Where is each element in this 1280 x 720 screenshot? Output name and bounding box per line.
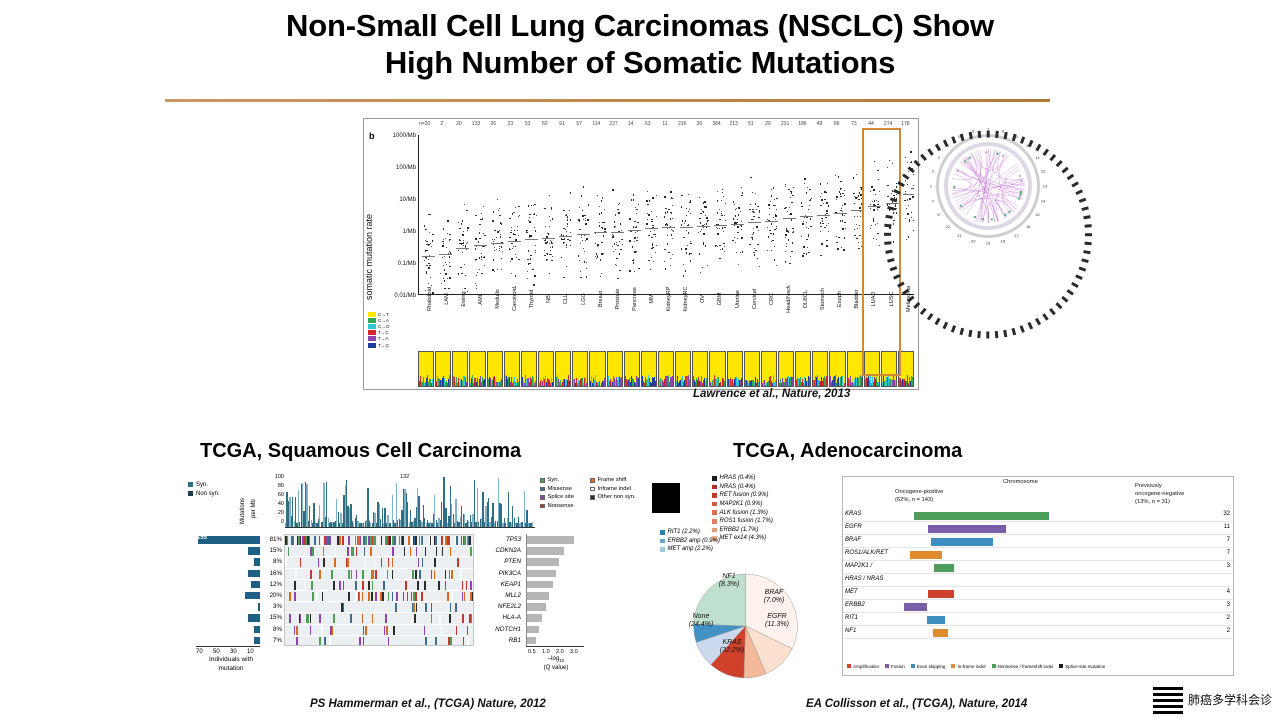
individuals-bar (198, 536, 260, 544)
oncoprint-tick (407, 592, 409, 601)
oncoprint-tick (363, 626, 365, 635)
chromosome-label: 9 (1015, 134, 1017, 139)
oncoprint-tick (450, 603, 452, 612)
heading-squamous: TCGA, Squamous Cell Carcinoma (200, 440, 521, 463)
oncoprint-tick (368, 536, 370, 545)
adeno-gene-row: HRAS / NRAS (843, 574, 1233, 587)
circos-segment (951, 325, 956, 332)
tumor-swarm (712, 135, 730, 294)
q-value-bar (527, 614, 542, 622)
gene-percentage: 12% (262, 579, 282, 590)
chromosome-label: 18 (1001, 239, 1005, 244)
individuals-bar-row (196, 635, 260, 646)
adeno-gene-frequency: 4 (1227, 589, 1230, 595)
oncoprint-tick (365, 558, 367, 567)
spectrum-cell (692, 351, 708, 387)
adeno-figure: HRAS (0.4%)NRAS (0.4%)RET fusion (0.9%)M… (660, 472, 1240, 687)
oncoprint-tick (424, 626, 426, 635)
oncoprint-tick (462, 581, 464, 590)
sample-count: 227 (605, 121, 622, 133)
sample-count: 51 (742, 121, 759, 133)
adeno-gene-row: MAP2K1 /3 (843, 561, 1233, 574)
color-swatch (712, 519, 717, 524)
tumor-type-label: OV (692, 297, 709, 349)
syn-legend-item: Syn. (188, 480, 240, 489)
gene-percentage: 15% (262, 545, 282, 556)
oncoprint-tick (403, 592, 405, 601)
oncoprint-tick (457, 558, 459, 567)
sample-count: 73 (845, 121, 862, 133)
oncoprint-tick (464, 536, 466, 545)
circos-segment (1049, 308, 1055, 315)
oncoprint-tick (299, 614, 301, 623)
pie-label-nf1: NF1(8.3%) (712, 573, 746, 589)
oncoprint-tick (356, 570, 358, 579)
oncoprint-tick (288, 547, 290, 556)
individuals-bar (248, 614, 260, 622)
color-swatch (712, 493, 717, 498)
citation-hammerman: PS Hammerman et al., (TCGA) Nature, 2012 (310, 698, 546, 710)
individuals-bar (248, 570, 260, 578)
sample-count: 20 (759, 121, 776, 133)
spectrum-cell (675, 351, 691, 387)
circos-segment (1075, 274, 1082, 279)
oncoprint-tick (470, 581, 472, 590)
adeno-gene-frequency: 2 (1227, 615, 1230, 621)
oncoprint-tick (435, 637, 437, 646)
oncoprint-tick (310, 626, 312, 635)
oncoprint-tick (374, 558, 376, 567)
spectrum-legend-label: C→A (378, 318, 389, 323)
tumor-swarm (420, 135, 438, 294)
sample-count: 23 (502, 121, 519, 133)
pie-label-gene: None (693, 613, 710, 620)
circos-segment (1056, 302, 1063, 309)
oncoprint-tick (419, 570, 421, 579)
pie-label-gene: EGFR (767, 613, 786, 620)
gene-percentage: 81% (262, 534, 282, 545)
y-tick: 10/Mb (399, 197, 416, 203)
chromosome-label: 6 (972, 128, 974, 133)
individuals-bar-row (196, 590, 260, 601)
oncoprint-tick (394, 536, 396, 545)
page-title: Non-Small Cell Lung Carcinomas (NSCLC) S… (160, 8, 1120, 81)
pie-label-braf: BRAF(7.0%) (754, 589, 794, 605)
gene-name: CDKN2A (478, 545, 524, 556)
gene-name: PTEN (478, 556, 524, 567)
individuals-bar-row (196, 568, 260, 579)
color-swatch (590, 487, 595, 492)
oncoprint-tick (473, 547, 474, 556)
spectrum-cell (469, 351, 485, 387)
oncoprint-tick (451, 592, 453, 601)
tumor-swarm (643, 135, 661, 294)
oncoprint-tick (362, 592, 364, 601)
oncoprint-tick (306, 536, 308, 545)
color-swatch (885, 664, 889, 668)
adeno-bottom-legend-label: Nonsense / frameshift indel (998, 664, 1054, 669)
oncoprint-tick (421, 592, 423, 601)
oncoprint-tick (392, 536, 394, 545)
mutation-rate-bars (285, 476, 535, 528)
oncoprint-tick (375, 592, 377, 601)
oncoprint-tick (318, 558, 320, 567)
gene-percentage: 20% (262, 590, 282, 601)
adeno-alteration-segment (914, 512, 1049, 520)
oncoprint-tick (393, 626, 395, 635)
citation-lawrence: Lawrence et al., Nature, 2013 (693, 388, 850, 400)
oncoprint-tick (360, 536, 362, 545)
adeno-gene-frequency: 2 (1227, 628, 1230, 634)
adeno-bottom-legend: AmplificationFusionExon skippingIn-frame… (847, 655, 1231, 673)
chromosome-label: Y (932, 198, 935, 203)
q-value-bar (527, 558, 559, 566)
color-swatch (368, 343, 376, 348)
circos-segment (1085, 224, 1092, 227)
oncoprint-tick (362, 581, 364, 590)
wechat-label: 肺癌多学科会诊 (1188, 691, 1272, 708)
tumor-type-label: Breast (589, 297, 606, 349)
qr-code-icon (1153, 684, 1183, 714)
oncoprint-tick (295, 570, 297, 579)
y-tick: 1000/Mb (393, 133, 416, 139)
circos-segment (1081, 258, 1088, 262)
oncoprint-tick (324, 637, 326, 646)
tumor-type-label: KidneyRP (658, 297, 675, 349)
sample-count: 213 (725, 121, 742, 133)
adeno-gene-name: BRAF (845, 537, 861, 543)
tumor-type-label: Prostate (606, 297, 623, 349)
circos-segment (1049, 154, 1055, 161)
adeno-gene-name: HRAS / NRAS (845, 576, 883, 582)
spectrum-legend-item: T→G (368, 342, 414, 348)
adeno-alteration-segment (927, 616, 945, 624)
y-tick: 0.1/Mb (398, 261, 416, 267)
header-chromosome: Chromosome (1003, 479, 1038, 485)
count-badge: 155 (197, 535, 207, 541)
oncoprint-tick (385, 614, 387, 623)
oncoprint-tick (422, 536, 424, 545)
legend-column-right: Frame shiftInframe indelOther non syn. (590, 476, 646, 502)
color-swatch (540, 478, 545, 483)
individuals-bar-row (196, 579, 260, 590)
q-value-bar (527, 626, 539, 634)
tumor-type-label: Ewing (452, 297, 469, 349)
oncoprint-tick (405, 581, 407, 590)
chromosome-label: 19 (986, 241, 990, 246)
mutation-legend-label: Inframe indel (598, 486, 632, 492)
color-swatch (540, 487, 545, 492)
individuals-bar (254, 637, 260, 645)
circos-segment (920, 308, 926, 315)
tumor-type-label: CRC (760, 297, 777, 349)
oncoprint-tick (333, 581, 335, 590)
tumor-type-label: DLBCL (794, 297, 811, 349)
oncoprint-tick (434, 570, 436, 579)
adeno-gene-name: KRAS (845, 511, 861, 517)
oncoprint-row (285, 535, 473, 546)
color-swatch (540, 495, 545, 500)
individuals-caption-1: Individuals with (188, 656, 274, 663)
circos-segment (1061, 296, 1068, 302)
oncoprint-tick (388, 637, 390, 646)
syn-legend-label: Non syn. (196, 491, 220, 497)
adeno-legend-item: RET fusion (0.9%) (712, 491, 830, 500)
pie-label-gene: NF1 (722, 573, 735, 580)
chromosome-label: 10 (1026, 143, 1030, 148)
circos-segment (1020, 325, 1025, 332)
oncoprint-tick (451, 570, 453, 579)
sample-count: 60 (536, 121, 553, 133)
oncoprint-tick (431, 614, 433, 623)
mutation-rate-plot (418, 135, 914, 295)
oncoprint-tick (362, 614, 364, 623)
adeno-alteration-segment (928, 525, 1006, 533)
oncoprint-tick (422, 558, 424, 567)
oncoprint-tick (434, 558, 436, 567)
spectrum-cell (418, 351, 434, 387)
circos-segment (1012, 328, 1016, 335)
circos-segment (927, 313, 933, 320)
tumor-type-label: LAM (435, 297, 452, 349)
legend-column-left: Syn.MissenseSplice siteNonsense (540, 476, 590, 510)
circos-segment (1081, 206, 1088, 210)
circos-segment (1028, 322, 1033, 329)
circos-segment (935, 318, 941, 325)
tumor-swarm (695, 135, 713, 294)
oncoprint-tick (334, 558, 336, 567)
tumor-swarm (523, 135, 541, 294)
spectrum-legend: C→TC→AC→GT→CT→AT→G (368, 311, 414, 348)
adeno-gene-name: RIT1 (845, 615, 858, 621)
color-swatch (368, 312, 376, 317)
oncoprint-tick (343, 581, 345, 590)
gene-name: MLL2 (478, 590, 524, 601)
oncoprint-tick (355, 581, 357, 590)
oncoprint-tick (371, 592, 373, 601)
pie-label-kras: KRAS(32.2%) (710, 639, 754, 655)
tumor-type-label: Head/Neck (777, 297, 794, 349)
color-swatch (590, 478, 595, 483)
circos-arcs (948, 146, 1028, 226)
q-value-bar (527, 637, 536, 645)
color-swatch (368, 324, 376, 329)
adeno-legend-label: HRAS (0.4%) (720, 475, 756, 481)
tumor-swarm (832, 135, 850, 294)
chromosome-label: 20 (971, 239, 975, 244)
oncoprint-tick (456, 626, 458, 635)
oncoprint-tick (416, 603, 418, 612)
tumor-swarm (540, 135, 558, 294)
adeno-bottom-legend-label: Fusion (891, 664, 905, 669)
adeno-legend-item: MAP2K1 (0.9%) (712, 500, 830, 509)
oncoprint-tick (441, 536, 443, 545)
pie-label-none: None(24.4%) (680, 613, 722, 629)
oncoprint-tick (434, 536, 436, 545)
oncoprint-tick (449, 614, 451, 623)
color-swatch (368, 318, 376, 323)
chromosome-label: 7 (987, 127, 989, 132)
spectrum-legend-label: C→T (378, 312, 389, 317)
chromosome-label: 22 (945, 224, 949, 229)
circos-segment (1004, 330, 1008, 337)
tumor-swarm (557, 135, 575, 294)
tumor-swarm (660, 135, 678, 294)
adeno-amp-legend-item: MET amp (2.2%) (660, 545, 778, 554)
oncoprint-tick (403, 536, 405, 545)
circos-segment (920, 154, 926, 161)
sample-count: 20 (450, 121, 467, 133)
color-swatch (368, 330, 376, 335)
oncoprint-tick (323, 558, 325, 567)
panel-letter-b: b (369, 131, 375, 141)
oncoprint-tick (372, 581, 374, 590)
color-swatch (660, 539, 665, 544)
adeno-gene-row: ERBB23 (843, 600, 1233, 613)
adeno-gene-rows: KRAS32EGFR11BRAF7ROS1/ALK/RET7MAP2K1 /3H… (843, 509, 1233, 639)
sample-count: 2 (433, 121, 450, 133)
adeno-bottom-legend-item: Nonsense / frameshift indel (992, 664, 1054, 669)
oncoprint-tick (333, 614, 335, 623)
q-value-bar (527, 547, 564, 555)
oncoprint-tick (355, 536, 357, 545)
sample-count-row: n=20220133262353609157114227146311216363… (416, 121, 914, 133)
oncoprint-tick (467, 637, 469, 646)
oncoprint-tick (396, 592, 398, 601)
adeno-legend-label: ALK fusion (1.3%) (720, 510, 768, 516)
sample-count: 11 (656, 121, 673, 133)
spectrum-cell (829, 351, 845, 387)
title-line-1: Non-Small Cell Lung Carcinomas (NSCLC) S… (160, 8, 1120, 45)
oncoprint-tick (439, 614, 441, 623)
oncoprint-tick (411, 614, 413, 623)
gene-name: KEAP1 (478, 579, 524, 590)
circos-segment (1061, 167, 1068, 173)
oncoprint-tick (351, 570, 353, 579)
oncoprint-tick (401, 536, 403, 545)
oncoprint-tick (450, 536, 452, 545)
individuals-bar (245, 592, 261, 600)
mutation-legend-label: Splice site (548, 494, 574, 500)
pie-label-gene: BRAF (765, 589, 784, 596)
chromosome-label: 2 (932, 169, 934, 174)
sample-count: 96 (828, 121, 845, 133)
oncoprint-tick (300, 558, 302, 567)
oncoprint-tick (416, 547, 418, 556)
mutation-legend-item: Nonsense (540, 502, 590, 511)
oncoprint-tick (463, 637, 465, 646)
sample-count: 186 (794, 121, 811, 133)
oncoprint-tick (392, 570, 394, 579)
q-value-bars (526, 534, 584, 646)
mutation-spectrum-row (418, 351, 914, 387)
adeno-gene-frequency: 7 (1227, 550, 1230, 556)
oncoprint-tick (291, 536, 293, 545)
color-swatch (992, 664, 996, 668)
oncoprint-tick (297, 614, 299, 623)
oncoprint-tick (460, 570, 462, 579)
oncoprint-row (285, 569, 473, 580)
adeno-bottom-legend-label: Exon skipping (917, 664, 946, 669)
adeno-legend-label: NRAS (0.4%) (720, 484, 756, 490)
sample-count: 91 (553, 121, 570, 133)
oncoprint-tick (321, 626, 323, 635)
mutation-legend-item: Inframe indel (590, 485, 646, 494)
pie-label-pct: (32.2%) (720, 647, 745, 654)
sample-count: 53 (519, 121, 536, 133)
gene-names: TP53CDKN2APTENPIK3CAKEAP1MLL2NFE2L2HLA-A… (478, 534, 524, 646)
adeno-alteration-segment (928, 590, 954, 598)
circos-segment (960, 328, 964, 335)
oncoprint-tick (470, 547, 472, 556)
gene-percentages: 81%15%8%16%12%20%3%15%8%7% (262, 534, 282, 646)
individuals-bar-row (196, 545, 260, 556)
spectrum-cell (641, 351, 657, 387)
gene-percentage: 8% (262, 624, 282, 635)
oncoprint-tick (384, 626, 386, 635)
chromosome-label: 3 (938, 155, 940, 160)
circos-segment (1071, 181, 1078, 187)
sample-count: 36 (691, 121, 708, 133)
mutation-rate-bar (532, 522, 533, 527)
oncoprint-tick (329, 637, 331, 646)
chromosome-label: 11 (1035, 155, 1039, 160)
circos-segment (1067, 174, 1074, 180)
oncoprint-tick (294, 581, 296, 590)
gene-percentage: 3% (262, 601, 282, 612)
adeno-legend-item: ALK fusion (1.3%) (712, 508, 830, 517)
oncoprint-tick (298, 536, 300, 545)
individuals-bar (248, 547, 260, 555)
tumor-swarm (678, 135, 696, 294)
circos-segment (1085, 233, 1092, 236)
oncoprint-tick (363, 637, 365, 646)
adeno-alteration-segment (934, 564, 955, 572)
oncoprint-tick (355, 592, 357, 601)
oncoprint-tick (466, 581, 468, 590)
adeno-amp-legend: RIT1 (2.2%)ERBB2 amp (0.9%)MET amp (2.2%… (660, 528, 778, 554)
circos-segment (1020, 136, 1025, 143)
tumor-type-label: KidneyRC (675, 297, 692, 349)
adeno-gene-row: KRAS32 (843, 509, 1233, 522)
adeno-gene-frequency: 3 (1227, 563, 1230, 569)
adeno-gene-row: NF12 (843, 626, 1233, 639)
mutation-legend-item: Syn. (540, 476, 590, 485)
spectrum-cell (624, 351, 640, 387)
spectrum-cell (589, 351, 605, 387)
adeno-legend-item: ROS1 fusion (1.7%) (712, 517, 830, 526)
tumor-swarm (609, 135, 627, 294)
circos-segment (969, 330, 973, 337)
oncoprint-tick (395, 603, 397, 612)
mutation-legend-label: Frame shift (598, 477, 627, 483)
y-axis-ticks: 1000/Mb100/Mb10/Mb1/Mb0.1/Mb0.01/Mb (378, 133, 418, 295)
individuals-axis: 70 50 30 10 (196, 646, 260, 654)
oncoprint-tick (448, 637, 450, 646)
title-divider (165, 99, 1050, 102)
header-oncogene-negative-sub2: (13%, n = 31) (1135, 499, 1170, 505)
oncoprint-tick (386, 626, 388, 635)
oncoprint-tick (442, 547, 444, 556)
oncoprint-tick (326, 536, 328, 545)
circos-segment (1035, 144, 1041, 151)
sample-count: 57 (571, 121, 588, 133)
oncoprint-tick (312, 592, 314, 601)
sample-count: 63 (639, 121, 656, 133)
oncoprint-tick (413, 536, 415, 545)
tumor-type-label: Medullo (486, 297, 503, 349)
tumor-type-label: CLL (555, 297, 572, 349)
